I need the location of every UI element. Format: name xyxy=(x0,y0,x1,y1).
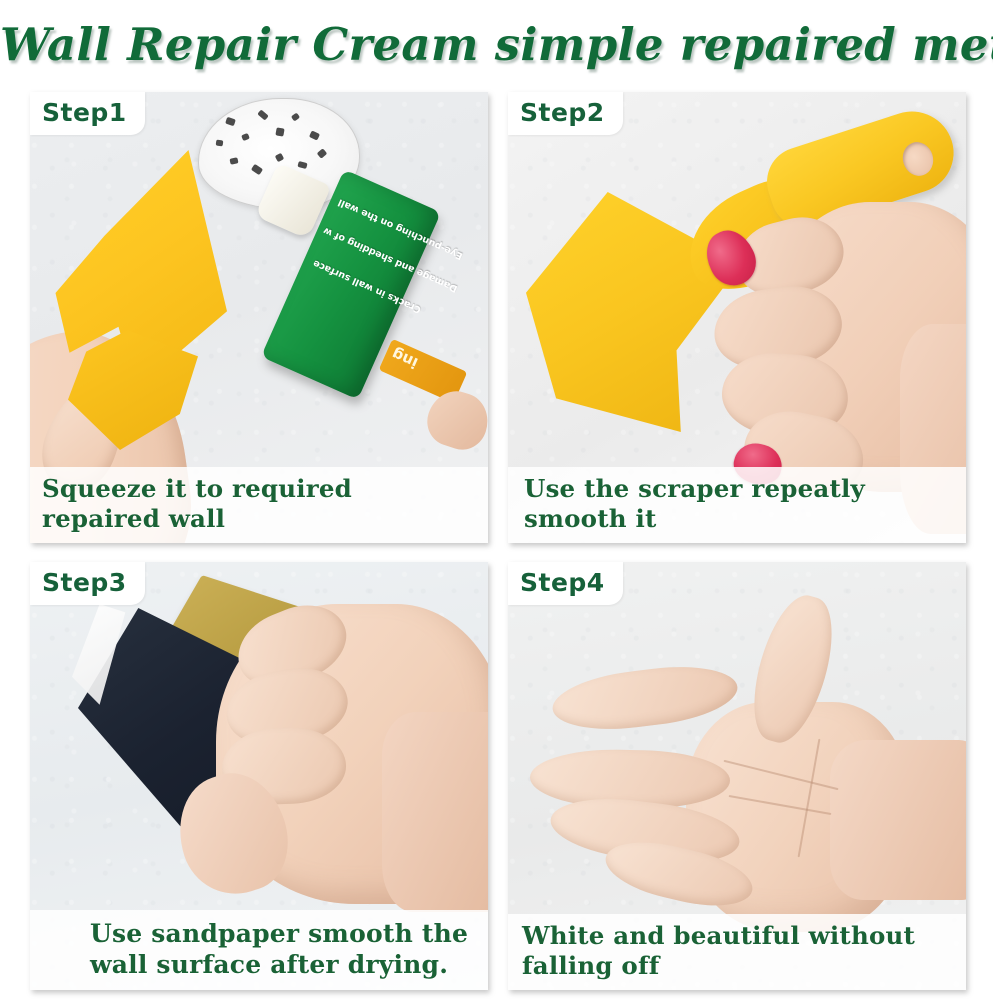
step1-photo: Eye-punching on the wall Damage and shed… xyxy=(30,92,488,543)
step-caption-3-line2: wall surface after drying. xyxy=(90,949,478,980)
step-panel-4[interactable]: Step4 White and beautiful without fallin… xyxy=(508,562,966,990)
step4-photo: Step4 White and beautiful without fallin… xyxy=(508,562,966,990)
steps-grid: Eye-punching on the wall Damage and shed… xyxy=(0,0,993,1000)
step-caption-3-line1: Use sandpaper smooth the xyxy=(90,918,478,949)
step-caption-1: Squeeze it to required repaired wall xyxy=(30,467,488,543)
wrist xyxy=(382,712,488,912)
step-badge-4: Step4 xyxy=(508,562,623,605)
step-badge-3: Step3 xyxy=(30,562,145,605)
wrist xyxy=(830,740,966,900)
grit-speck xyxy=(275,127,284,136)
step-badge-2: Step2 xyxy=(508,92,623,135)
step-caption-4: White and beautiful without falling off xyxy=(508,914,966,990)
grit-speck xyxy=(216,140,224,147)
step2-photo: Step2 Use the scraper repeatly smooth it xyxy=(508,92,966,543)
step-panel-3[interactable]: Step3 Use sandpaper smooth the wall surf… xyxy=(30,562,488,990)
step-caption-3: Use sandpaper smooth the wall surface af… xyxy=(30,910,488,990)
step3-photo: Step3 Use sandpaper smooth the wall surf… xyxy=(30,562,488,990)
step-panel-1[interactable]: Eye-punching on the wall Damage and shed… xyxy=(30,92,488,543)
tube-band-label: ing xyxy=(389,345,421,372)
step-caption-2: Use the scraper repeatly smooth it xyxy=(508,467,966,543)
step-panel-2[interactable]: Step2 Use the scraper repeatly smooth it xyxy=(508,92,966,543)
step-badge-1: Step1 xyxy=(30,92,145,135)
